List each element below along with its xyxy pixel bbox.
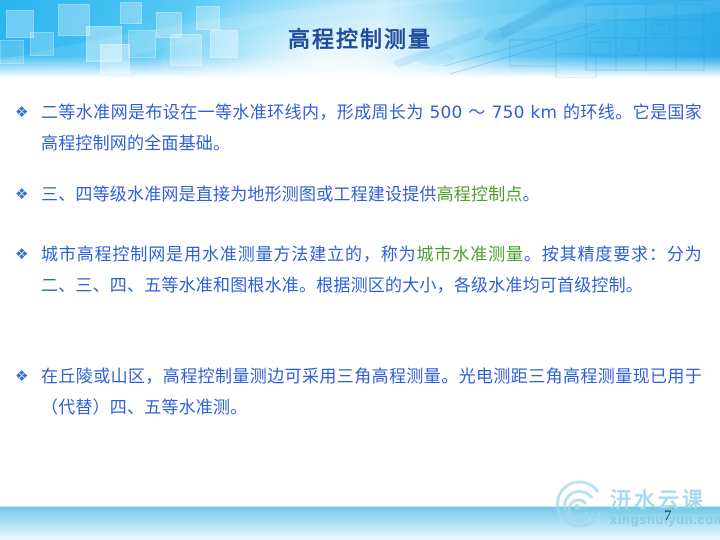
bullet-diamond-icon: ❖ (12, 362, 41, 392)
bullet-3-segment-0: 城市高程控制网是用水准测量方法建立的，称为 (41, 245, 417, 265)
list-item: ❖ 二等水准网是布设在一等水准环线内，形成周长为 500 ～ 750 km 的环… (12, 98, 702, 160)
page-title: 高程控制测量 (0, 22, 720, 54)
bullet-1-segment-0: 二等水准网是布设在一等水准环线内，形成周长为 500 ～ 750 km 的环线。… (41, 103, 702, 154)
bullet-text-2: 三、四等级水准网是直接为地形测图或工程建设提供高程控制点。 (41, 180, 702, 211)
list-item: ❖ 城市高程控制网是用水准测量方法建立的，称为城市水准测量。按其精度要求：分为二… (12, 240, 702, 302)
slide-canvas: 高程控制测量 ❖ 二等水准网是布设在一等水准环线内，形成周长为 500 ～ 75… (0, 0, 720, 540)
bullet-4-segment-0: 在丘陵或山区，高程控制量测边可采用三角高程测量。光电测距三角高程测量现已用于（代… (41, 367, 702, 418)
bullet-text-4: 在丘陵或山区，高程控制量测边可采用三角高程测量。光电测距三角高程测量现已用于（代… (41, 362, 702, 424)
bullet-diamond-icon: ❖ (12, 98, 41, 128)
footer-band (0, 506, 720, 540)
slide-header-banner: 高程控制测量 (0, 0, 720, 78)
bullet-2-highlight: 高程控制点 (437, 185, 523, 205)
bullet-3-highlight: 城市水准测量 (417, 245, 524, 265)
bullet-2-segment-0: 三、四等级水准网是直接为地形测图或工程建设提供 (41, 185, 437, 205)
list-item: ❖ 在丘陵或山区，高程控制量测边可采用三角高程测量。光电测距三角高程测量现已用于… (12, 362, 702, 424)
bullet-diamond-icon: ❖ (12, 240, 41, 270)
page-number: 7 (664, 508, 672, 525)
list-item: ❖ 三、四等级水准网是直接为地形测图或工程建设提供高程控制点。 (12, 180, 702, 211)
slide-content: ❖ 二等水准网是布设在一等水准环线内，形成周长为 500 ～ 750 km 的环… (0, 90, 720, 490)
bullet-text-3: 城市高程控制网是用水准测量方法建立的，称为城市水准测量。按其精度要求：分为二、三… (41, 240, 702, 302)
bullet-2-segment-2: 。 (523, 185, 540, 205)
bullet-diamond-icon: ❖ (12, 180, 41, 210)
bullet-text-1: 二等水准网是布设在一等水准环线内，形成周长为 500 ～ 750 km 的环线。… (41, 98, 702, 160)
